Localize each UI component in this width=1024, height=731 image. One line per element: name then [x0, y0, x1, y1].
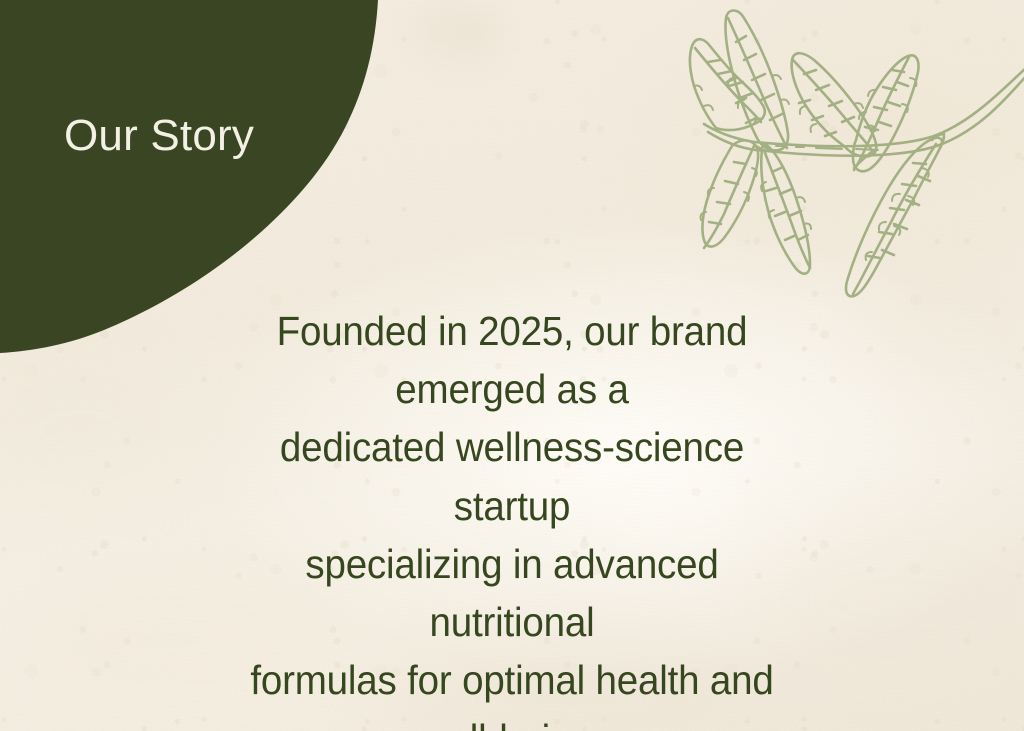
body-line: formulas for optimal health and well-bei… [221, 651, 804, 731]
body-paragraph: Founded in 2025, our brand emerged as a … [221, 302, 804, 731]
page-title: Our Story [64, 112, 254, 160]
body-line: specializing in advanced nutritional [221, 535, 804, 651]
body-line: Founded in 2025, our brand emerged as a [221, 302, 804, 418]
slide-canvas: Our Story [0, 0, 1024, 731]
body-line: dedicated wellness-science startup [221, 418, 804, 534]
